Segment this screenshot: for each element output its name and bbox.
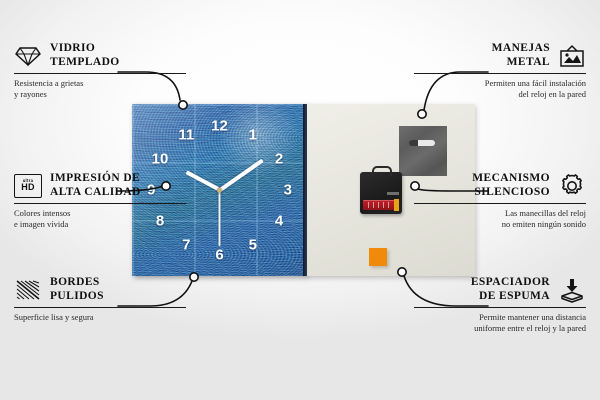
movement-hook (372, 166, 392, 176)
battery-contact (394, 199, 399, 211)
gear-icon (558, 173, 586, 199)
feature-description: Superficie lisa y segura (14, 312, 186, 323)
feature-title: ESPACIADOR DE ESPUMA (471, 276, 550, 303)
feature-tempered-glass: VIDRIO TEMPLADO Resistencia a grietas y … (14, 42, 186, 101)
clock-numeral-1: 1 (249, 127, 257, 142)
feature-rule (414, 203, 586, 204)
clock-numeral-2: 2 (275, 152, 283, 167)
feature-metal-hooks: MANEJAS METAL Permiten una fácil instala… (414, 42, 586, 101)
clock-hand-cap (217, 188, 222, 193)
feature-foam-spacer: ESPACIADOR DE ESPUMA Permite mantener un… (414, 276, 586, 335)
clock-numeral-11: 11 (178, 127, 194, 142)
feature-description: Colores intensos e imagen vívida (14, 208, 186, 230)
feature-rule (14, 73, 186, 74)
infographic-canvas: 12 1 2 3 4 5 6 7 8 9 10 11 (0, 0, 600, 400)
feature-rule (414, 307, 586, 308)
quartz-movement (360, 172, 402, 214)
feature-rule (414, 73, 586, 74)
feature-description: Permiten una fácil instalación del reloj… (414, 78, 586, 100)
feature-description: Permite mantener una distancia uniforme … (414, 312, 586, 334)
feature-title: BORDES PULIDOS (50, 276, 104, 303)
clock-numeral-10: 10 (152, 152, 169, 167)
diamond-icon (14, 43, 42, 69)
ultra-hd-icon: ultra HD (14, 173, 42, 199)
clock-numeral-6: 6 (215, 248, 223, 263)
feature-polished-edges: BORDES PULIDOS Superficie lisa y segura (14, 276, 186, 323)
clock-numeral-4: 4 (275, 213, 283, 228)
clock-numeral-7: 7 (182, 238, 190, 253)
feature-rule (14, 307, 186, 308)
movement-label-strip (387, 192, 399, 195)
feature-silent-mechanism: MECANISMO SILENCIOSO Las manecillas del … (414, 172, 586, 231)
foam-spacer-pad (369, 248, 387, 266)
feature-title: IMPRESIÓN DE ALTA CALIDAD (50, 172, 141, 199)
clock-second-hand (219, 190, 221, 246)
feature-hd-print: ultra HD IMPRESIÓN DE ALTA CALIDAD Color… (14, 172, 186, 231)
arrow-onto-stack-icon (558, 277, 586, 303)
clock-numeral-3: 3 (284, 183, 292, 198)
picture-hanger-icon (558, 43, 586, 69)
feature-title: VIDRIO TEMPLADO (50, 42, 120, 69)
clock-numeral-12: 12 (211, 119, 228, 134)
polished-edge-icon (14, 277, 42, 303)
feature-title: MECANISMO SILENCIOSO (472, 172, 550, 199)
feature-description: Resistencia a grietas y rayones (14, 78, 186, 100)
feature-title: MANEJAS METAL (492, 42, 550, 69)
hanger-slot (409, 140, 435, 146)
metal-hanger-plate (399, 126, 447, 176)
feature-rule (14, 203, 186, 204)
clock-numeral-5: 5 (249, 238, 257, 253)
feature-description: Las manecillas del reloj no emiten ningú… (414, 208, 586, 230)
battery-compartment (363, 200, 397, 210)
